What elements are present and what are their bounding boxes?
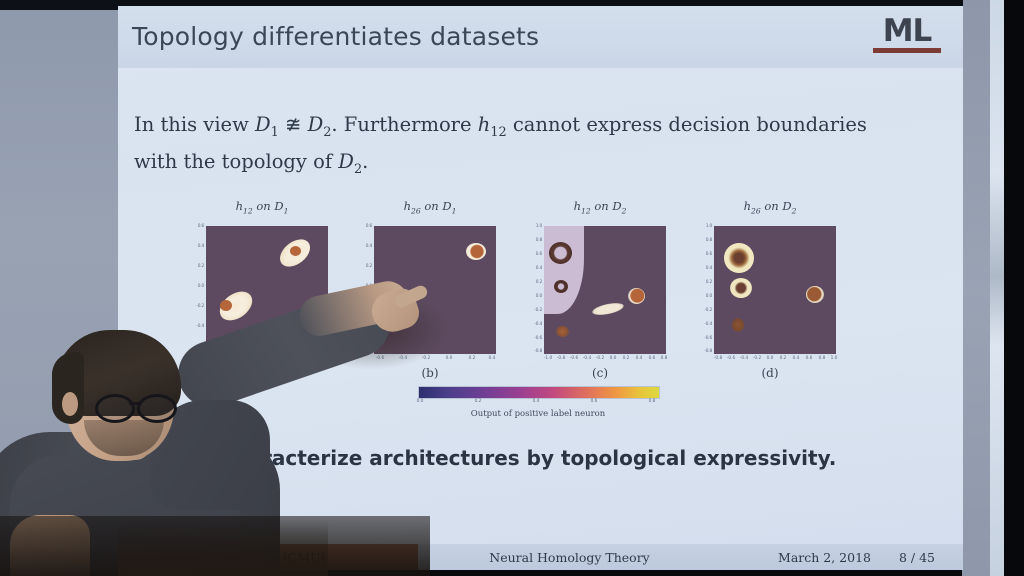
body-line2-pre: with the topology of xyxy=(134,150,338,173)
panel-d-xtick-0: -0.8 xyxy=(714,356,722,361)
panel-c-ytick-6: -0.2 xyxy=(526,308,542,313)
colorbar-ticks: 0.0 0.2 0.4 0.6 0.8 xyxy=(418,399,658,408)
panel-c: h12 on D2 1.0 0.8 0.6 0.4 0.2 0.0 -0.2 -… xyxy=(526,216,674,376)
panel-b-xtick-1: -0.4 xyxy=(399,356,407,361)
door-frame-strip xyxy=(990,0,1004,576)
panel-d-ring-right xyxy=(806,286,824,303)
panel-d-ytick-6: -0.2 xyxy=(696,308,712,313)
panel-c-xtick-6: 0.2 xyxy=(623,356,630,361)
room-wall-left xyxy=(0,0,118,576)
hypothesis-h-symbol: h xyxy=(478,113,491,136)
panel-a-xtick-5: 0.4 xyxy=(321,356,328,361)
frame-right-letterbox xyxy=(1004,0,1024,576)
panel-a-ytick-6: -0.6 xyxy=(188,344,204,349)
page-title: Topology differentiates datasets xyxy=(132,22,539,51)
panel-c-ytick-9: -0.8 xyxy=(526,349,542,354)
panel-c-ring-1 xyxy=(549,242,572,264)
panel-c-ring-2 xyxy=(554,280,568,293)
panel-d-xtick-4: 0.0 xyxy=(767,356,774,361)
panel-b-ring-upper xyxy=(466,243,486,260)
panel-a-title: h12 on D1 xyxy=(188,199,336,215)
panel-d-ytick-4: 0.2 xyxy=(696,280,712,285)
room-wall-right xyxy=(962,0,992,576)
panel-b-ytick-3: 0.0 xyxy=(356,284,372,289)
colorbar-tick-0: 0.0 xyxy=(417,399,424,404)
panel-a-xtick-0: -0.6 xyxy=(208,356,216,361)
panel-d-xtick-6: 0.4 xyxy=(793,356,800,361)
panel-d: h26 on D2 1.0 0.8 0.6 0.4 0.2 0.0 -0.2 -… xyxy=(696,216,844,376)
panel-d-ring-2 xyxy=(730,278,752,298)
panel-c-ytick-7: -0.4 xyxy=(526,322,542,327)
panel-b-xtick-5: 0.4 xyxy=(489,356,496,361)
panel-d-xaxis: -0.8 -0.6 -0.4 -0.2 0.0 0.2 0.4 0.6 0.8 … xyxy=(714,356,836,364)
panel-b-xaxis: -0.6 -0.4 -0.2 0.0 0.2 0.4 xyxy=(374,356,496,364)
dataset-d2-symbol: D xyxy=(308,113,324,136)
body-line2-dataset-subscript: 2 xyxy=(354,162,362,177)
colorbar-label: Output of positive label neuron xyxy=(418,409,658,419)
panel-a-ytick-2: 0.2 xyxy=(188,264,204,269)
panel-b-xtick-3: 0.0 xyxy=(446,356,453,361)
stage-shadow xyxy=(118,520,328,576)
panel-d-xtick-1: -0.6 xyxy=(727,356,735,361)
panel-c-xtick-5: 0.0 xyxy=(610,356,617,361)
panel-c-xtick-4: -0.2 xyxy=(596,356,604,361)
panel-a-ytick-0: 0.6 xyxy=(188,224,204,229)
panel-a-xtick-4: 0.2 xyxy=(301,356,308,361)
figure-decision-boundaries: h12 on D1 0.6 0.4 0.2 0.0 -0.2 -0.4 -0.6… xyxy=(178,198,878,413)
panel-c-xtick-7: 0.4 xyxy=(636,356,643,361)
panel-c-xtick-9: 0.8 xyxy=(661,356,668,361)
panel-b-caption: (b) xyxy=(356,366,504,380)
panel-a-plot xyxy=(206,226,328,354)
panel-c-plot xyxy=(544,226,666,354)
panel-d-xtick-7: 0.6 xyxy=(806,356,813,361)
panel-c-lavender-region xyxy=(544,226,584,314)
colorbar-tick-2: 0.4 xyxy=(533,399,540,404)
panel-c-ytick-8: -0.6 xyxy=(526,336,542,341)
body-text-post: cannot express decision boundaries xyxy=(507,113,867,136)
panel-d-xtick-3: -0.2 xyxy=(753,356,761,361)
panel-d-title: h26 on D2 xyxy=(696,199,844,215)
panel-c-blob-lower xyxy=(556,326,569,337)
panel-c-xtick-2: -0.6 xyxy=(570,356,578,361)
projected-slide: Topology differentiates datasets ML In t… xyxy=(118,6,963,570)
panel-b-xtick-0: -0.6 xyxy=(376,356,384,361)
dataset-d1-subscript: 1 xyxy=(271,125,279,140)
panel-d-ytick-5: 0.0 xyxy=(696,294,712,299)
panel-c-ytick-2: 0.6 xyxy=(526,252,542,257)
room-ceiling-shadow xyxy=(0,0,118,10)
panel-d-xtick-5: 0.2 xyxy=(780,356,787,361)
panel-c-title: h12 on D2 xyxy=(526,199,674,215)
panel-d-xtick-2: -0.4 xyxy=(740,356,748,361)
panel-d-caption: (d) xyxy=(696,366,844,380)
panel-a-caption: (a) xyxy=(188,366,336,380)
panel-c-xaxis: -1.0 -0.8 -0.6 -0.4 -0.2 0.0 0.2 0.4 0.6… xyxy=(544,356,666,364)
colorbar-tick-1: 0.2 xyxy=(475,399,482,404)
panel-a-xtick-1: -0.4 xyxy=(231,356,239,361)
panel-a-xtick-2: -0.2 xyxy=(254,356,262,361)
panel-d-ytick-9: -0.8 xyxy=(696,349,712,354)
panel-c-ytick-5: 0.0 xyxy=(526,294,542,299)
panel-a-core-upper xyxy=(290,246,301,256)
colorbar: 0.0 0.2 0.4 0.6 0.8 Output of positive l… xyxy=(418,386,663,419)
panel-c-xtick-0: -1.0 xyxy=(544,356,552,361)
panel-b-title: h26 on D1 xyxy=(356,199,504,215)
panel-d-ytick-0: 1.0 xyxy=(696,224,712,229)
footer-page-number: 8 / 45 xyxy=(871,544,963,570)
panel-c-ytick-0: 1.0 xyxy=(526,224,542,229)
panel-a-ytick-4: -0.2 xyxy=(188,304,204,309)
panel-c-ring-right xyxy=(628,288,645,304)
panel-b-ring-lower xyxy=(384,296,408,318)
body-line2-dataset-symbol: D xyxy=(338,150,354,173)
panel-b-plot xyxy=(374,226,496,354)
panel-c-ytick-1: 0.8 xyxy=(526,238,542,243)
body-text-pre: In this view xyxy=(134,113,255,136)
panel-d-ytick-1: 0.8 xyxy=(696,238,712,243)
panel-c-xtick-3: -0.4 xyxy=(583,356,591,361)
not-homeomorphic-symbol: ≇ xyxy=(279,113,308,136)
panel-c-caption: (c) xyxy=(526,366,674,380)
panel-c-xtick-1: -0.8 xyxy=(557,356,565,361)
panel-c-xtick-8: 0.6 xyxy=(649,356,656,361)
panel-d-ytick-8: -0.6 xyxy=(696,336,712,341)
ml-logo-text: ML xyxy=(871,14,943,48)
panel-a-ytick-3: 0.0 xyxy=(188,284,204,289)
panel-a: h12 on D1 0.6 0.4 0.2 0.0 -0.2 -0.4 -0.6… xyxy=(188,216,336,376)
panel-d-ring-1 xyxy=(724,243,754,273)
dataset-d1-symbol: D xyxy=(255,113,271,136)
slide-body-text: In this view D1 ≇ D2. Furthermore h12 ca… xyxy=(134,110,894,184)
panel-c-streak xyxy=(591,301,624,317)
panel-a-ytick-1: 0.4 xyxy=(188,244,204,249)
hypothesis-h-subscript: 12 xyxy=(490,125,506,140)
body-line2-post: . xyxy=(362,150,368,173)
colorbar-tick-3: 0.6 xyxy=(591,399,598,404)
panel-c-ytick-4: 0.2 xyxy=(526,280,542,285)
slide-tagline: We can characterize architectures by top… xyxy=(134,446,934,470)
panel-b-xtick-4: 0.2 xyxy=(469,356,476,361)
panel-b: h26 on D1 0.6 0.4 0.2 0.0 -0.2 -0.4 -0.6… xyxy=(356,216,504,376)
panel-b-ytick-5: -0.4 xyxy=(356,324,372,329)
panel-d-ytick-7: -0.4 xyxy=(696,322,712,327)
panel-d-xtick-8: 0.8 xyxy=(819,356,826,361)
colorbar-tick-4: 0.8 xyxy=(649,399,656,404)
panel-d-blob-3 xyxy=(732,318,744,332)
panel-a-xaxis: -0.6 -0.4 -0.2 0.0 0.2 0.4 xyxy=(206,356,328,364)
panel-a-ytick-5: -0.4 xyxy=(188,324,204,329)
panel-b-ytick-4: -0.2 xyxy=(356,304,372,309)
panel-c-ytick-3: 0.4 xyxy=(526,266,542,271)
panel-a-xtick-3: 0.0 xyxy=(278,356,285,361)
panel-b-ytick-0: 0.6 xyxy=(356,224,372,229)
panel-b-ytick-6: -0.6 xyxy=(356,344,372,349)
panel-d-plot xyxy=(714,226,836,354)
panel-b-ytick-2: 0.2 xyxy=(356,264,372,269)
ml-logo: ML xyxy=(871,14,943,58)
footer-title: Neural Homology Theory xyxy=(418,544,721,570)
panel-b-xtick-2: -0.2 xyxy=(422,356,430,361)
panel-b-ytick-1: 0.4 xyxy=(356,244,372,249)
footer-date: March 2, 2018 xyxy=(721,544,871,570)
body-text-mid: . Furthermore xyxy=(331,113,477,136)
video-frame: Topology differentiates datasets ML In t… xyxy=(0,0,1024,576)
panel-d-ytick-3: 0.4 xyxy=(696,266,712,271)
panel-d-xtick-9: 1.0 xyxy=(831,356,838,361)
colorbar-gradient xyxy=(418,386,660,399)
panel-a-core-lower xyxy=(220,300,232,311)
panel-d-ytick-2: 0.6 xyxy=(696,252,712,257)
